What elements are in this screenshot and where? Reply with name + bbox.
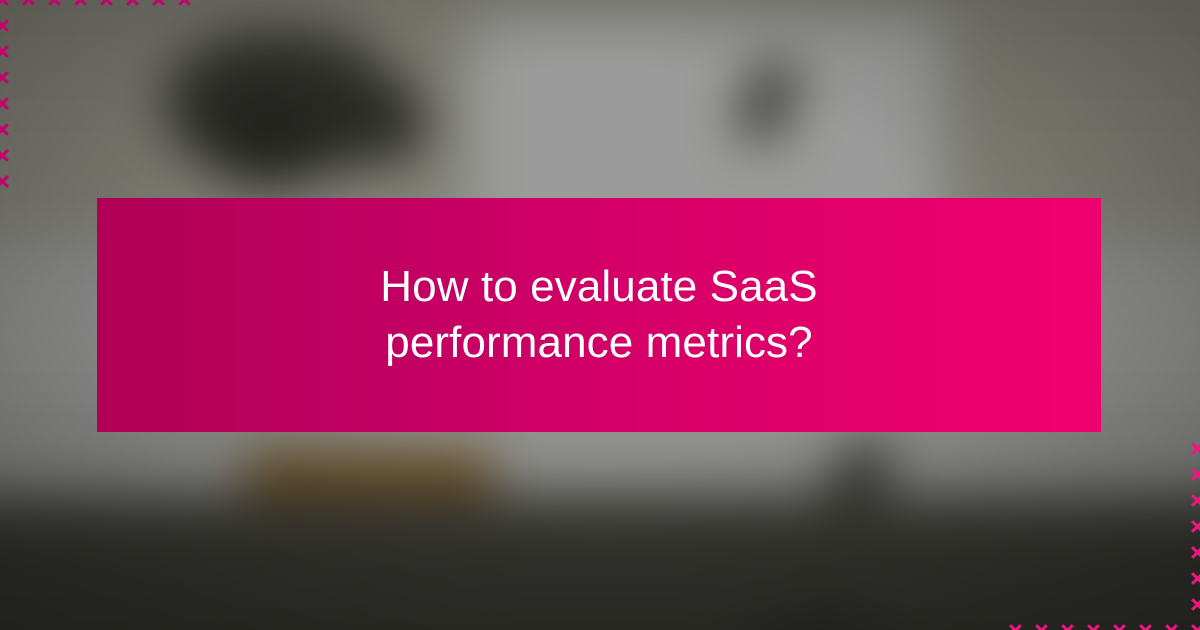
- page-title: How to evaluate SaaS performance metrics…: [259, 259, 939, 371]
- title-banner: How to evaluate SaaS performance metrics…: [97, 198, 1101, 432]
- share-card: How to evaluate SaaS performance metrics…: [0, 0, 1200, 630]
